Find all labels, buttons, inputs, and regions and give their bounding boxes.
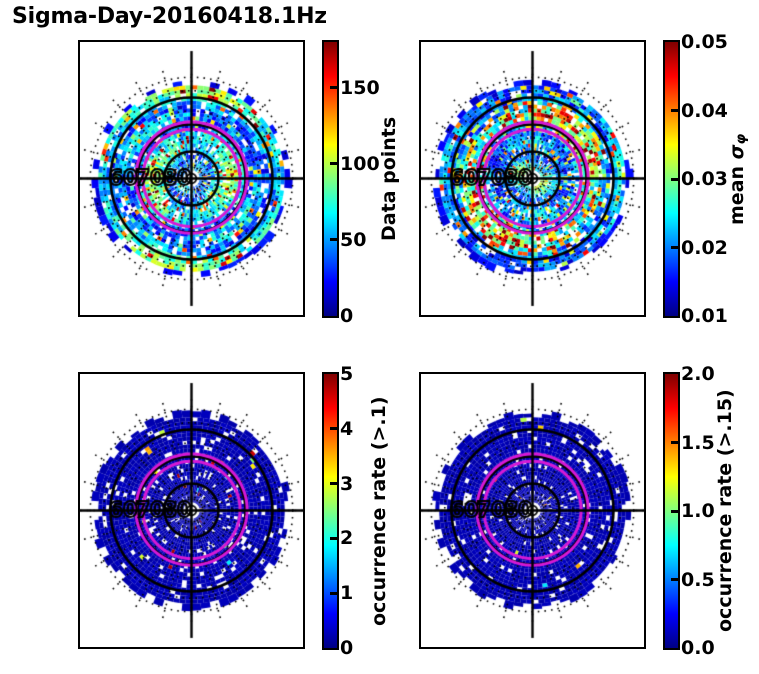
colorbar-tick: 0.05 [678,31,728,53]
colorbar-tick-mark [671,41,678,44]
colorbar-tick-mark [671,441,678,444]
colorbar-tick: 50 [337,229,366,251]
colorbar-tick: 2.0 [678,363,715,385]
colorbar-label-occurrence-rate-015: occurrence rate (>.15) [714,372,736,650]
colorbar-occurrence-rate-015[interactable]: 0.00.51.01.52.0 [663,372,680,650]
colorbar-tick-label: 0.05 [681,31,728,53]
colorbar-tick: 150 [337,77,380,99]
colorbar-mean-sigma-phi[interactable]: 0.010.020.030.040.05 [663,40,680,318]
colorbar-tick-label: 1.5 [681,432,715,454]
colorbar-tick-mark [330,427,337,430]
colorbar-tick: 100 [337,153,380,175]
colorbar-tick: 0 [337,637,353,659]
colorbar-tick-mark [330,238,337,241]
colorbar-tick-label: 5 [340,363,353,385]
colorbar-tick: 1.0 [678,500,715,522]
colorbar-tick-label: 0.03 [681,168,728,190]
colorbar-tick: 1 [337,582,353,604]
colorbar-label-mean-sigma-phi: mean σφ [726,40,749,318]
colorbar-tick: 0.01 [678,305,728,327]
polar-plot-frame-occurrence-rate-01 [78,372,305,649]
colorbar-tick-label: 3 [340,473,353,495]
colorbar-tick: 0.04 [678,100,728,122]
colorbar-tick-mark [671,109,678,112]
colorbar-tick-mark [330,162,337,165]
colorbar-tick-label: 2.0 [681,363,715,385]
polar-heatmap-occurrence-rate-01 [80,374,303,647]
colorbar-tick: 0.02 [678,237,728,259]
colorbar-tick-mark [671,510,678,513]
colorbar-tick-mark [671,246,678,249]
colorbar-tick-mark [671,647,678,650]
colorbar-tick: 2 [337,527,353,549]
colorbar-tick-mark [671,578,678,581]
colorbar-tick-label: 100 [340,153,380,175]
colorbar-tick-mark [330,315,337,318]
colorbar-tick: 1.5 [678,432,715,454]
colorbar-tick-mark [671,373,678,376]
colorbar-tick: 4 [337,418,353,440]
colorbar-tick: 3 [337,473,353,495]
colorbar-tick-label: 1 [340,582,353,604]
colorbar-tick-label: 0 [340,637,353,659]
colorbar-tick-label: 0.04 [681,100,728,122]
colorbar-tick-label: 0.0 [681,637,715,659]
colorbar-tick-label: 2 [340,527,353,549]
polar-plot-frame-occurrence-rate-015 [419,372,646,649]
colorbar-gradient-data-points [324,42,337,316]
colorbar-tick-label: 0 [340,305,353,327]
colorbar-tick-label: 0.02 [681,237,728,259]
colorbar-label-data-points: Data points [378,40,400,318]
colorbar-tick: 0.03 [678,168,728,190]
colorbar-tick-mark [671,178,678,181]
colorbar-tick-mark [330,592,337,595]
colorbar-tick-mark [330,86,337,89]
polar-heatmap-occurrence-rate-015 [421,374,644,647]
polar-plot-frame-data-points [78,40,305,317]
colorbar-occurrence-rate-01[interactable]: 012345 [322,372,339,650]
colorbar-tick-label: 0.01 [681,305,728,327]
colorbar-tick-mark [330,482,337,485]
figure-title: Sigma-Day-20160418.1Hz [12,4,327,29]
colorbar-tick-mark [671,315,678,318]
polar-heatmap-mean-sigma-phi [421,42,644,315]
colorbar-tick: 0.0 [678,637,715,659]
colorbar-tick-label: 4 [340,418,353,440]
polar-plot-frame-mean-sigma-phi [419,40,646,317]
colorbar-tick-label: 150 [340,77,380,99]
colorbar-tick-mark [330,537,337,540]
colorbar-tick-label: 1.0 [681,500,715,522]
colorbar-tick: 5 [337,363,353,385]
colorbar-tick-label: 50 [340,229,366,251]
colorbar-label-occurrence-rate-01: occurrence rate (>.1) [368,372,390,650]
polar-heatmap-data-points [80,42,303,315]
colorbar-tick-mark [330,373,337,376]
colorbar-tick: 0 [337,305,353,327]
colorbar-tick-label: 0.5 [681,569,715,591]
colorbar-tick-mark [330,647,337,650]
colorbar-gradient-occurrence-rate-01 [324,374,337,648]
colorbar-data-points[interactable]: 050100150 [322,40,339,318]
colorbar-tick: 0.5 [678,569,715,591]
